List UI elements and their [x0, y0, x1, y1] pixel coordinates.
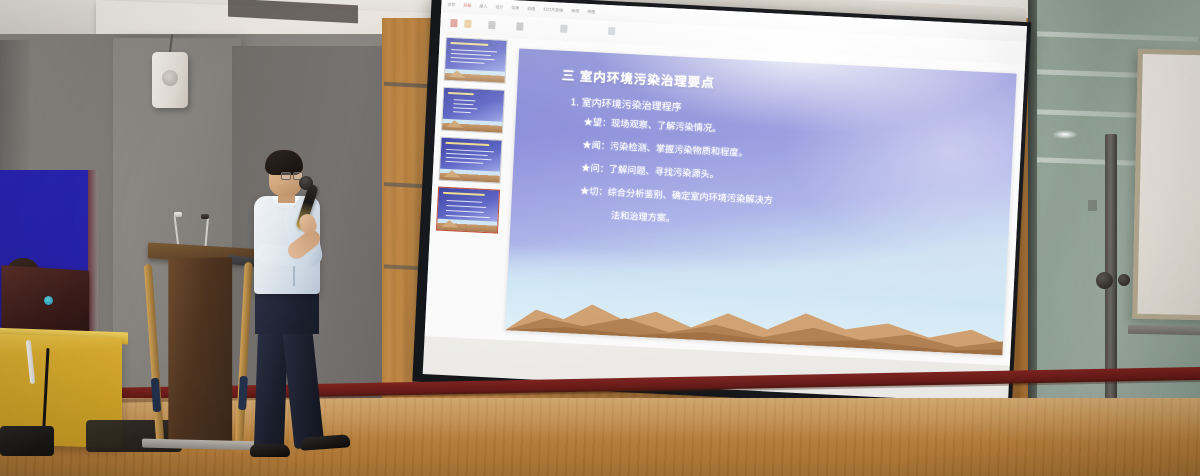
- screen-surface: 文件 开始 插入 设计 切换 动画 幻灯片放映 审阅 视图: [423, 0, 1027, 404]
- lectern-mic-head-left: [174, 212, 182, 217]
- slide-thumb-1[interactable]: [444, 37, 508, 84]
- ribbon-tab-view[interactable]: 视图: [585, 9, 597, 16]
- slide-subtitle: 1. 室内环境污染治理程序: [570, 93, 682, 114]
- floor-equipment-secondary: [0, 426, 54, 456]
- ribbon-tab-review[interactable]: 审阅: [569, 8, 581, 15]
- ribbon-tab-insert[interactable]: 插入: [477, 3, 489, 10]
- slide-bullet-list: ★望：现场观察、了解污染情况。 ★闻：污染检测、掌握污染物质和程度。 ★问：了解…: [578, 114, 1003, 250]
- projection-screen: 文件 开始 插入 设计 切换 动画 幻灯片放映 审阅 视图: [412, 0, 1031, 422]
- slide-thumb-3[interactable]: [438, 137, 502, 184]
- ribbon-chip-icon: [450, 19, 457, 27]
- presenter-glasses: [281, 172, 302, 179]
- whiteboard: [1132, 49, 1200, 321]
- ribbon-chip-icon: [608, 27, 615, 35]
- active-slide[interactable]: 三 室内环境污染治理要点 1. 室内环境污染治理程序 ★望：现场观察、了解污染情…: [505, 48, 1017, 355]
- thumb-mountain-art: [437, 219, 497, 233]
- ribbon-chip-icon: [516, 22, 523, 30]
- ribbon-chip-icon: [560, 25, 567, 33]
- ribbon-chip-icon: [464, 20, 471, 28]
- slide-title: 三 室内环境污染治理要点: [562, 65, 716, 92]
- slide-thumb-4[interactable]: [436, 187, 500, 234]
- glass-light-glare: [1052, 130, 1078, 139]
- wall-outlet: [1088, 200, 1097, 211]
- lectern-mic-head-right: [201, 214, 209, 219]
- ribbon-tab-slideshow[interactable]: 幻灯片放映: [541, 7, 565, 14]
- ribbon-tab-animations[interactable]: 动画: [525, 6, 537, 13]
- presenter-shoe-left: [250, 444, 290, 457]
- slide-thumb-2[interactable]: [441, 87, 505, 134]
- ribbon-tab-file[interactable]: 文件: [445, 2, 457, 9]
- screen-frame: 文件 开始 插入 设计 切换 动画 幻灯片放映 审阅 视图: [412, 0, 1031, 412]
- ribbon-tab-design[interactable]: 设计: [493, 4, 505, 11]
- lecture-room-photo: 文件 开始 插入 设计 切换 动画 幻灯片放映 审阅 视图: [0, 0, 1200, 476]
- whiteboard-adjust-knob[interactable]: [1096, 272, 1113, 289]
- thumb-mountain-art: [442, 119, 502, 133]
- thumb-mountain-art: [440, 169, 500, 183]
- ribbon-chip-icon: [488, 21, 495, 29]
- ribbon-tab-transitions[interactable]: 切换: [509, 5, 521, 12]
- thumb-mountain-art: [445, 69, 505, 83]
- lectern-front-panel: [168, 257, 232, 446]
- laptop-logo-icon: [44, 296, 53, 305]
- slide-thumbnail-rail[interactable]: [430, 35, 511, 342]
- ribbon-tab-home[interactable]: 开始: [461, 3, 473, 10]
- powerpoint-workspace: 三 室内环境污染治理要点 1. 室内环境污染治理程序 ★望：现场观察、了解污染情…: [425, 34, 1026, 365]
- glass-mullion: [1028, 0, 1037, 430]
- presenter-trousers: [255, 290, 319, 334]
- wall-speaker: [152, 52, 188, 108]
- whiteboard-adjust-knob-secondary[interactable]: [1118, 274, 1130, 286]
